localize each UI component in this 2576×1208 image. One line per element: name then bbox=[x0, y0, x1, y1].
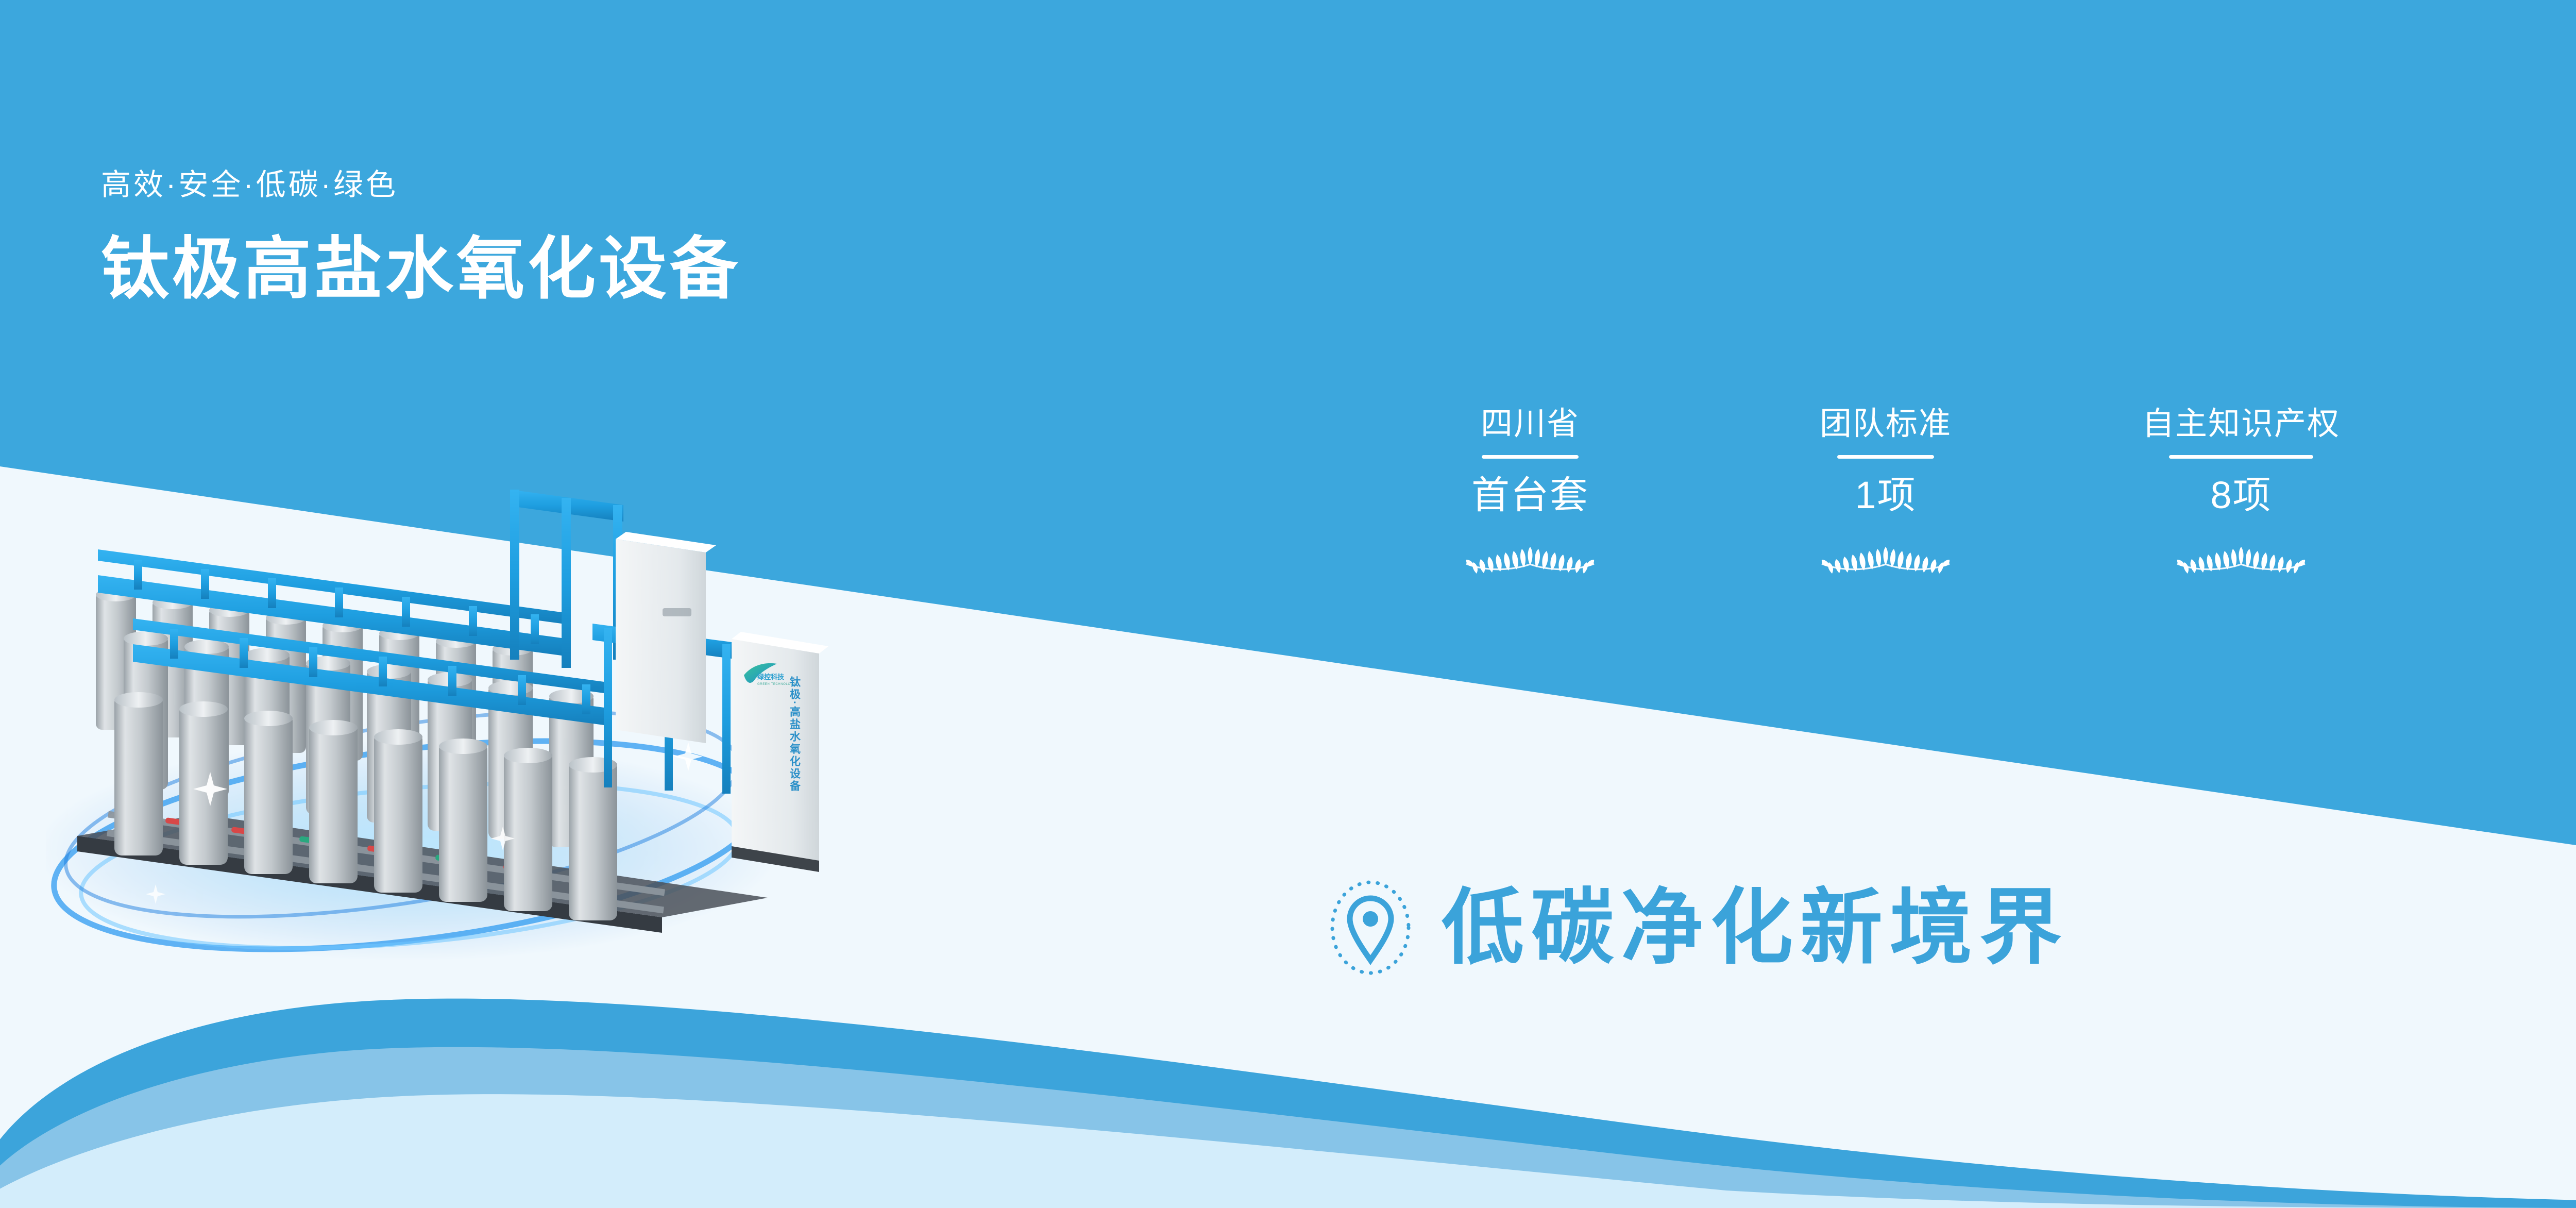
stat-divider bbox=[2169, 455, 2313, 459]
laurel-wreath-icon bbox=[2097, 535, 2385, 577]
stat-label: 自主知识产权 bbox=[2097, 407, 2385, 441]
stat-item-ip: 自主知识产权 8项 bbox=[2097, 407, 2385, 577]
equipment-illustration: 绿控科技 GREEN TECHNOLOGY 钛极·高盐水氧化设备 bbox=[46, 454, 850, 969]
stat-divider bbox=[1837, 455, 1934, 459]
stat-value: 1项 bbox=[1741, 474, 2030, 516]
stat-divider bbox=[1482, 455, 1579, 459]
laurel-wreath-icon bbox=[1741, 535, 2030, 577]
stat-item-province: 四川省 首台套 bbox=[1386, 407, 1674, 577]
stat-label: 四川省 bbox=[1386, 407, 1674, 441]
headline-block: 高效·安全·低碳·绿色 钛极高盐水氧化设备 bbox=[101, 170, 741, 303]
location-pin-icon bbox=[1324, 879, 1417, 977]
stat-value: 首台套 bbox=[1386, 474, 1674, 516]
stats-row: 四川省 首台套 bbox=[1386, 407, 2385, 577]
eyebrow-text: 高效·安全·低碳·绿色 bbox=[101, 170, 741, 200]
cabinet-label-text: 钛极·高盐水氧化设备 bbox=[789, 676, 802, 793]
page-title: 钛极高盐水氧化设备 bbox=[101, 235, 741, 303]
stat-item-team-standard: 团队标准 1项 bbox=[1741, 407, 2030, 577]
svg-text:绿控科技: 绿控科技 bbox=[757, 673, 785, 681]
stat-value: 8项 bbox=[2097, 474, 2385, 516]
banner-root: 绿控科技 GREEN TECHNOLOGY 钛极·高盐水氧化设备 高效·安全·低… bbox=[0, 0, 2576, 1208]
tagline-text: 低碳净化新境界 bbox=[1442, 886, 2069, 969]
product-cabinet: 绿控科技 GREEN TECHNOLOGY 钛极·高盐水氧化设备 bbox=[732, 632, 828, 872]
stat-label: 团队标准 bbox=[1741, 407, 2030, 441]
tagline-block: 低碳净化新境界 bbox=[1324, 879, 2069, 977]
laurel-wreath-icon bbox=[1386, 535, 1674, 577]
control-cabinet-back bbox=[616, 532, 716, 743]
